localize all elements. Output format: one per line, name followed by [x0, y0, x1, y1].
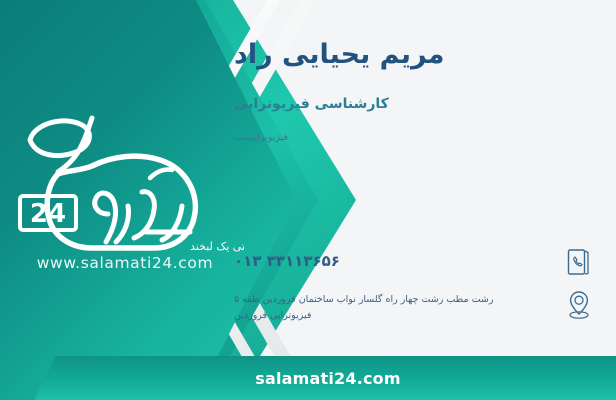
address-line-1: رشت مطب رشت چهار راه گلسار نواب ساختمان … [234, 292, 556, 308]
brand-logo: 24 به راحتی یک لبخند www.salamati24.com [14, 110, 244, 280]
footer-website[interactable]: salamati24.com [0, 356, 616, 400]
phone-book-icon [564, 245, 594, 279]
apple-outline-icon: 24 به راحتی یک لبخند [14, 110, 244, 260]
person-name: مریم یحیایی راد [234, 38, 594, 72]
person-role: فیزیوتراپیست [234, 132, 594, 143]
contact-block: ۳۳۱۱۳۶۵۶ ۰۱۳ رشت مطب رشت چهار راه گلسار … [234, 245, 594, 332]
contact-row-phone: ۳۳۱۱۳۶۵۶ ۰۱۳ [234, 245, 594, 279]
logo-url: www.salamati24.com [14, 254, 236, 272]
address-text: رشت مطب رشت چهار راه گلسار نواب ساختمان … [234, 288, 556, 323]
business-card: 24 به راحتی یک لبخند www.salamati24.com … [0, 0, 616, 400]
contact-row-address: رشت مطب رشت چهار راه گلسار نواب ساختمان … [234, 288, 594, 323]
map-pin-icon [564, 288, 594, 322]
svg-text:24: 24 [30, 199, 66, 229]
address-line-2: فیزیوتراپی فروردین [234, 308, 556, 324]
info-column: مریم یحیایی راد کارشناسی فیزیوتراپی فیزی… [234, 0, 594, 400]
phone-number[interactable]: ۳۳۱۱۳۶۵۶ ۰۱۳ [234, 245, 556, 270]
person-degree: کارشناسی فیزیوتراپی [234, 95, 594, 113]
